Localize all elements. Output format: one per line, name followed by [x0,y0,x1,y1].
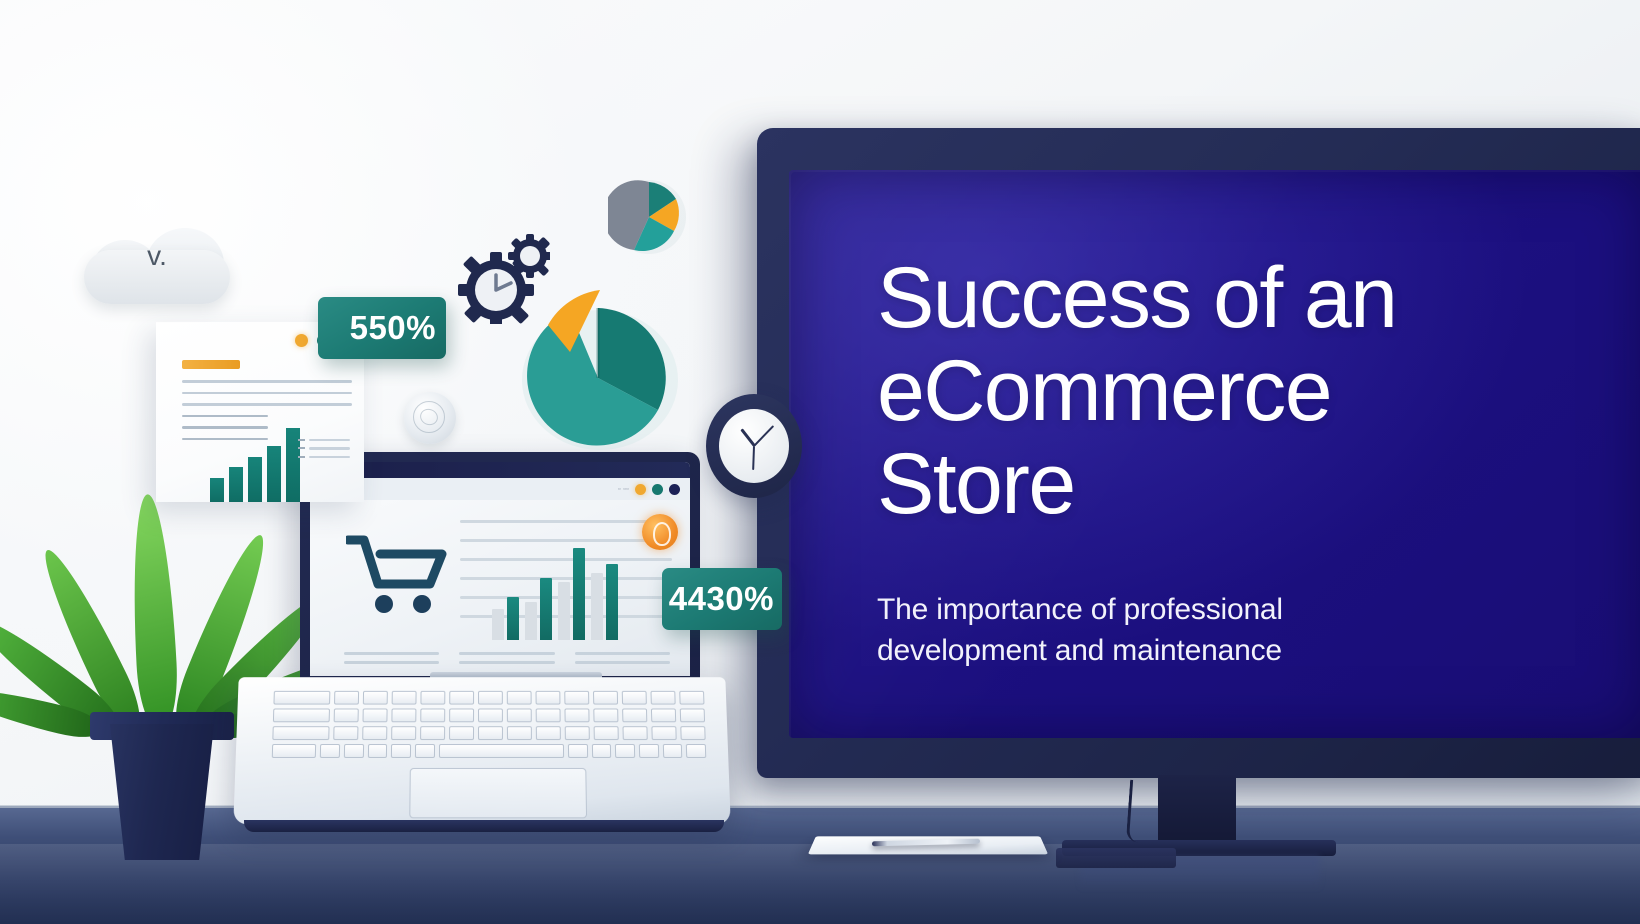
keyboard-key[interactable] [622,708,647,722]
growth-badge-primary: 4430% [662,568,782,630]
clock-face [719,409,789,483]
page-subtitle: The importance of professional developme… [877,589,1607,672]
keyboard-row[interactable] [273,691,704,705]
laptop-footer-lines [344,652,670,670]
keyboard-key[interactable] [392,708,417,722]
keyboard-key[interactable] [536,708,561,722]
bar-current-Q1 [507,597,519,640]
bar-group-Q1 [492,597,519,640]
page-title: Success of an eCommerce Store [877,252,1607,531]
text-line [575,652,670,655]
keyboard-key[interactable] [651,726,676,740]
text-line [182,403,352,406]
desk-device [1056,848,1176,868]
keyboard-key[interactable] [565,726,590,740]
laptop-base-shadow [244,820,724,832]
keyboard-key[interactable] [449,691,474,705]
text-line [459,652,554,655]
keyboard-key[interactable] [391,744,411,758]
bar-group-Q4 [591,564,618,640]
window-dot-orange-icon[interactable] [295,334,308,347]
keyboard-key[interactable] [679,691,704,705]
keyboard-key[interactable] [565,708,590,722]
keyboard-key[interactable] [420,726,445,740]
legend-label [309,439,350,442]
keyboard-key[interactable] [478,708,503,722]
keyboard-row[interactable] [272,726,705,740]
crumpled-paper-icon [404,392,456,444]
keyboard-key[interactable] [273,708,330,722]
keyboard-key[interactable] [449,708,474,722]
keyboard-key[interactable] [272,726,329,740]
growth-badge-secondary: 550% [318,297,446,359]
keyboard-key[interactable] [362,726,387,740]
legend-marker [298,447,305,449]
card-bar-3 [248,457,262,502]
text-line [459,661,554,664]
legend-row [298,447,350,450]
keyboard-key[interactable] [368,744,388,758]
laptop-browser-toolbar: ▫ ▫▫ [310,478,690,500]
clock-icon [706,394,802,498]
bar-group-Q3 [558,548,585,640]
keyboard-key[interactable] [593,708,618,722]
keyboard-key[interactable] [478,691,503,705]
bar-current-Q4 [606,564,618,640]
keyboard-key[interactable] [421,691,446,705]
keyboard-key[interactable] [623,726,648,740]
legend-label [309,447,350,450]
keyboard-row[interactable] [273,708,705,722]
card-accent-bar [182,360,240,369]
keyboard-key[interactable] [273,691,330,705]
keyboard-key[interactable] [507,708,532,722]
window-dot-orange-icon[interactable] [635,484,646,495]
keyboard-key[interactable] [568,744,588,758]
legend-label [309,456,350,459]
legend-row [298,439,350,442]
laptop-browser-titlebar [310,462,690,478]
keyboard-key[interactable] [622,691,647,705]
keyboard-key[interactable] [639,744,659,758]
text-line [182,392,352,395]
keyboard-key[interactable] [363,691,388,705]
keyboard-key[interactable] [334,691,359,705]
laptop-trackpad[interactable] [409,768,587,818]
keyboard-key[interactable] [662,744,682,758]
notification-badge-icon[interactable] [642,514,678,550]
keyboard-key[interactable] [363,708,388,722]
keyboard-key[interactable] [564,691,589,705]
pie-chart-small [608,176,690,258]
laptop-screen: ▫ ▫▫ [310,462,690,676]
bar-previous-Q2 [525,602,537,640]
clock-second-hand [752,446,755,470]
keyboard-key[interactable] [333,726,358,740]
screen-content: Success of an eCommerce Store The import… [877,252,1607,671]
text-line [182,415,268,418]
bar-current-Q2 [540,578,552,640]
card-bar-1 [210,478,224,502]
keyboard-key[interactable] [686,744,706,758]
keyboard-key[interactable] [507,691,532,705]
keyboard-key[interactable] [320,744,340,758]
text-line [344,652,439,655]
keyboard-key[interactable] [594,726,619,740]
text-line [575,661,670,664]
keyboard-key[interactable] [420,708,445,722]
keyboard-key[interactable] [334,708,359,722]
monitor-screen: Success of an eCommerce Store The import… [789,170,1640,738]
monitor-stand-neck [1158,775,1236,843]
window-dot-teal-icon[interactable] [652,484,663,495]
card-bar-4 [267,446,281,502]
gridline [460,520,672,523]
keyboard-key[interactable] [593,691,618,705]
keyboard-key[interactable] [478,726,503,740]
keyboard-row[interactable] [272,744,707,758]
keyboard-key[interactable] [392,691,417,705]
legend-marker [298,456,305,458]
keyboard-key[interactable] [507,726,532,740]
bar-group-Q2 [525,578,552,640]
keyboard-key[interactable] [536,691,561,705]
pie-chart-large [508,282,688,452]
card-chart-legend [298,439,350,465]
bar-previous-Q4 [591,573,603,640]
bar-previous-Q1 [492,609,504,640]
keyboard-key[interactable] [680,708,705,722]
keyboard-key[interactable] [615,744,635,758]
bar-current-Q3 [573,548,585,640]
window-dot-navy-icon[interactable] [669,484,680,495]
legend-marker [298,439,305,441]
keyboard-key[interactable] [650,691,675,705]
card-bar-chart [210,422,300,502]
desktop-monitor: Success of an eCommerce Store The import… [757,128,1640,778]
poster-canvas: Success of an eCommerce Store The import… [0,0,1640,924]
keyboard-key[interactable] [651,708,676,722]
keyboard-key[interactable] [592,744,612,758]
plant-pot [100,724,224,860]
clock-minute-hand [754,425,775,447]
keyboard-key[interactable] [344,744,364,758]
cloud-label: v. [84,240,230,272]
keyboard-key[interactable] [415,744,435,758]
keyboard-key[interactable] [536,726,561,740]
keyboard-key[interactable] [272,744,317,758]
legend-row [298,456,350,459]
keyboard-key[interactable] [449,726,474,740]
laptop-base [233,677,730,824]
text-line [182,380,352,383]
cloud-icon: v. [84,206,230,310]
laptop-url-text: ▫ ▫▫ [618,486,629,493]
bar-previous-Q3 [558,582,570,640]
shopping-cart-icon [346,534,450,616]
keyboard-key[interactable] [680,726,705,740]
keyboard-key[interactable] [391,726,416,740]
card-bar-2 [229,467,243,502]
keyboard-key[interactable] [439,744,565,758]
text-line [344,661,439,664]
laptop-keyboard[interactable] [272,691,707,758]
